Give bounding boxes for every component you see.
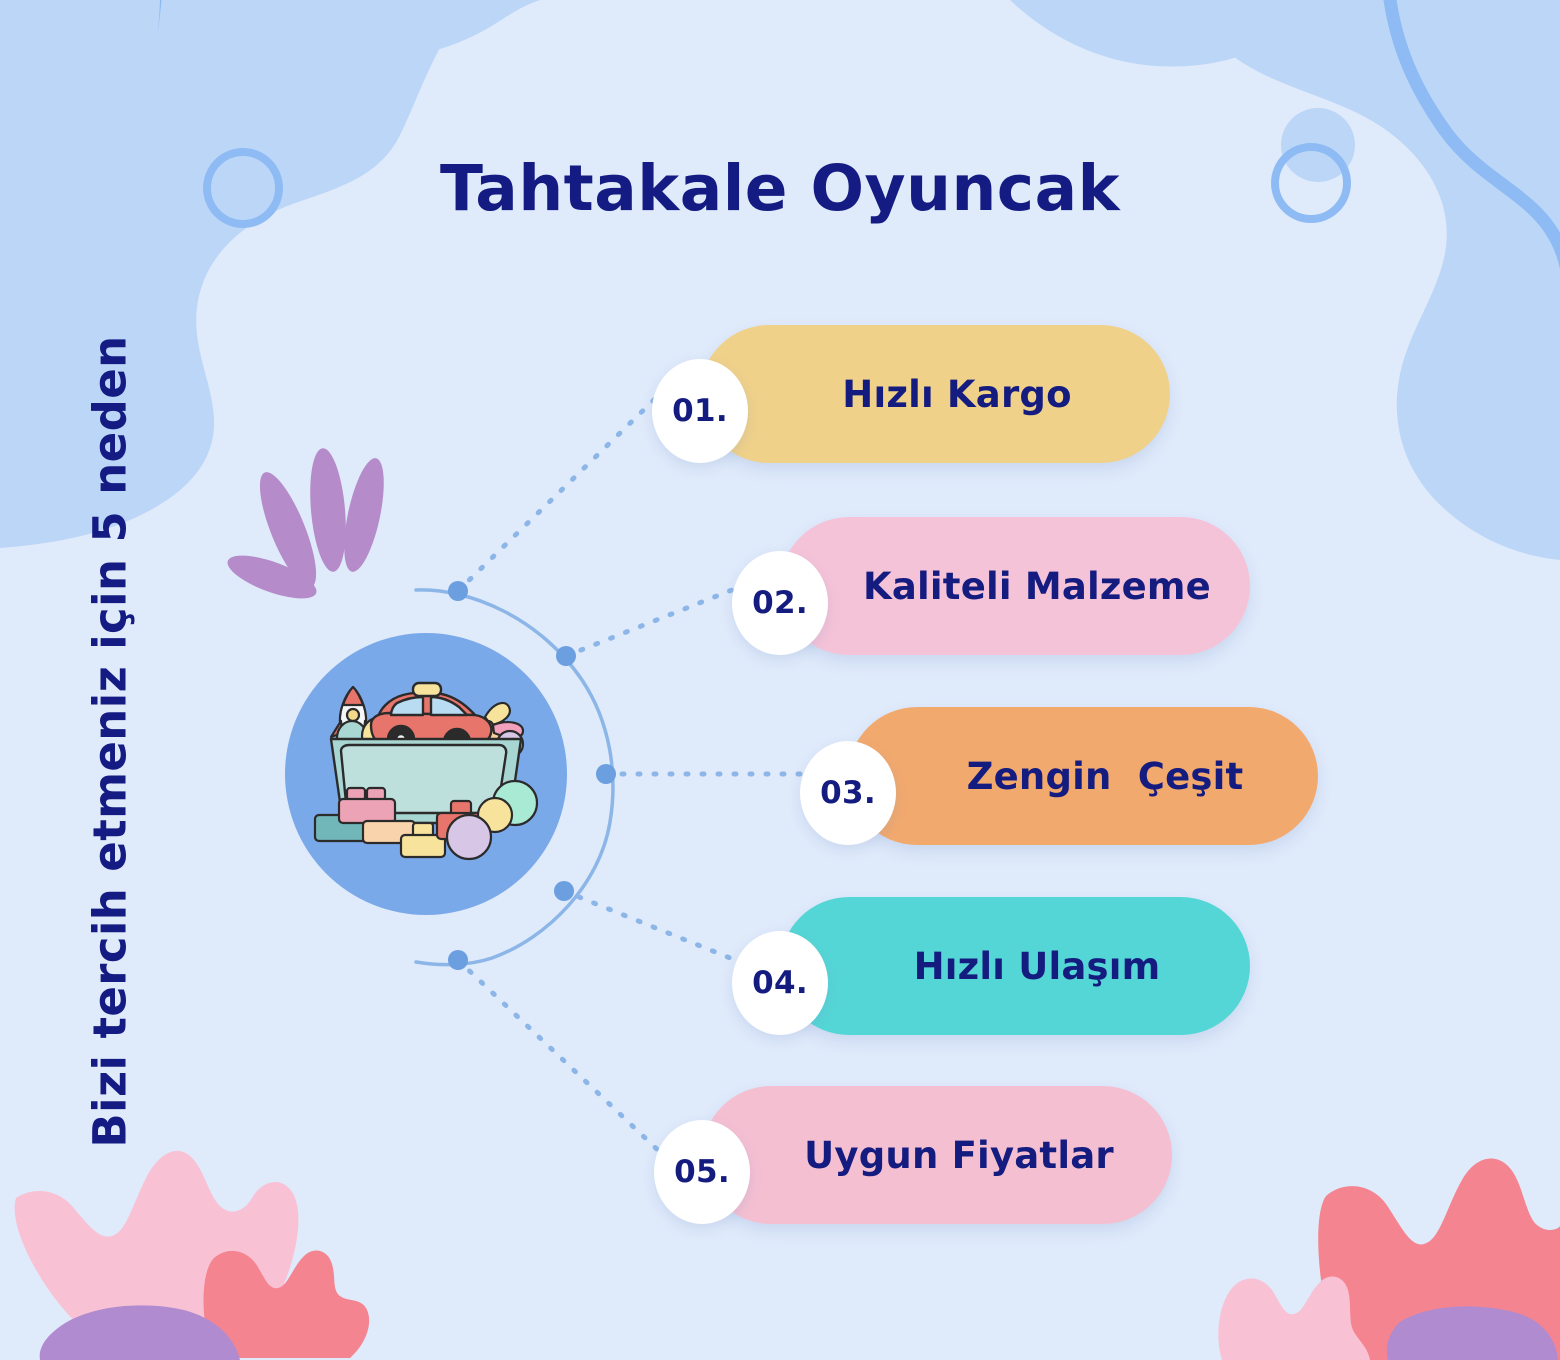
infographic-poster: Tahtakale Oyuncak Bizi tercih etmeniz iç… (0, 0, 1560, 1360)
item-label-2: Kaliteli Malzeme (793, 565, 1237, 608)
toy-box-illustration (285, 633, 567, 915)
item-badge-5[interactable]: 05. (654, 1120, 750, 1224)
item-zengin-cesit[interactable]: Zengin Çeşit 03. (848, 707, 1318, 845)
connector-node-2 (556, 646, 576, 666)
item-badge-4[interactable]: 04. (732, 931, 828, 1035)
item-number-3: 03. (820, 775, 876, 811)
item-number-1: 01. (672, 393, 728, 429)
connector-node-5 (448, 950, 468, 970)
leader-line-5 (458, 960, 662, 1154)
item-badge-3[interactable]: 03. (800, 741, 896, 845)
item-pill-3[interactable]: Zengin Çeşit (848, 707, 1318, 845)
item-label-3: Zengin Çeşit (897, 755, 1270, 798)
item-badge-1[interactable]: 01. (652, 359, 748, 463)
connector-node-1 (448, 581, 468, 601)
item-number-4: 04. (752, 965, 808, 1001)
item-kaliteli-malzeme[interactable]: Kaliteli Malzeme 02. (780, 517, 1250, 655)
leader-line-2 (566, 586, 742, 656)
connector-node-3 (596, 764, 616, 784)
item-hizli-kargo[interactable]: Hızlı Kargo 01. (700, 325, 1170, 463)
item-hizli-ulasim[interactable]: Hızlı Ulaşım 04. (780, 897, 1250, 1035)
item-pill-5[interactable]: Uygun Fiyatlar (702, 1086, 1172, 1224)
leader-line-4 (564, 891, 740, 962)
item-label-4: Hızlı Ulaşım (844, 945, 1187, 988)
item-number-2: 02. (752, 585, 808, 621)
leader-line-1 (458, 394, 660, 591)
item-pill-1[interactable]: Hızlı Kargo (700, 325, 1170, 463)
item-label-1: Hızlı Kargo (772, 373, 1097, 416)
item-badge-2[interactable]: 02. (732, 551, 828, 655)
item-uygun-fiyatlar[interactable]: Uygun Fiyatlar 05. (702, 1086, 1172, 1224)
item-number-5: 05. (674, 1154, 730, 1190)
connector-node-4 (554, 881, 574, 901)
item-pill-4[interactable]: Hızlı Ulaşım (780, 897, 1250, 1035)
item-pill-2[interactable]: Kaliteli Malzeme (780, 517, 1250, 655)
item-label-5: Uygun Fiyatlar (734, 1134, 1140, 1177)
